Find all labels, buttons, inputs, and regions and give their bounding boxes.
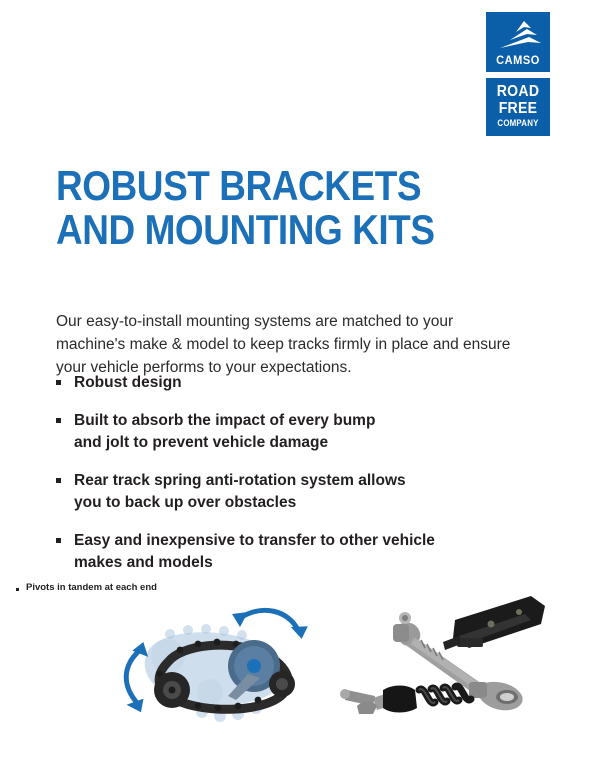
right-pivot-arrow-icon (240, 610, 298, 630)
figure-footnote: Pivots in tandem at each end (16, 582, 157, 594)
list-item-line: makes and models (74, 552, 435, 574)
list-item-text: Built to absorb the impact of every bump… (74, 410, 375, 454)
page-title-line-1: Robust brackets (56, 164, 434, 208)
list-item-line: Robust design (74, 372, 182, 394)
bullet-square-icon (56, 478, 61, 483)
list-item-line: Easy and inexpensive to transfer to othe… (74, 530, 435, 552)
bullet-square-icon (56, 380, 61, 385)
track-assembly-figure (110, 600, 335, 735)
footnote-bullet-icon (16, 588, 19, 591)
bullet-square-icon (56, 418, 61, 423)
road-free-line-1: ROAD (490, 83, 546, 100)
page-root: CAMSO ROAD FREE COMPANY Robust brackets … (0, 0, 600, 767)
list-item-line: you to back up over obstacles (74, 492, 406, 514)
hardware-parts-illustration-icon (335, 590, 550, 730)
intro-paragraph: Our easy-to-install mounting systems are… (56, 310, 526, 379)
list-item-text: Robust design (74, 372, 182, 394)
spring-assembly-part (340, 686, 471, 715)
left-arrow-head-bottom-icon (127, 699, 148, 716)
idler-wheel (154, 672, 190, 708)
list-item-line: Rear track spring anti-rotation system a… (74, 470, 406, 492)
feature-list: Robust design Built to absorb the impact… (56, 372, 526, 590)
rear-wheel (269, 671, 295, 697)
list-item: Rear track spring anti-rotation system a… (56, 470, 526, 514)
hardware-parts-figure (335, 590, 550, 730)
page-title: Robust brackets and mounting kits (56, 164, 434, 252)
list-item: Easy and inexpensive to transfer to othe… (56, 530, 526, 574)
camso-logo-badge: CAMSO (486, 12, 550, 72)
camso-wordmark: CAMSO (489, 54, 548, 66)
mounting-rail-part (443, 596, 545, 650)
road-free-line-3: COMPANY (490, 117, 546, 129)
list-item-text: Easy and inexpensive to transfer to othe… (74, 530, 435, 574)
list-item: Built to absorb the impact of every bump… (56, 410, 526, 454)
footnote-text: Pivots in tandem at each end (26, 582, 157, 594)
page-title-line-2: and mounting kits (56, 208, 434, 252)
list-item: Robust design (56, 372, 526, 394)
camso-chevron-mark-icon (494, 19, 542, 49)
road-free-line-2: FREE (490, 100, 546, 117)
list-item-line: and jolt to prevent vehicle damage (74, 432, 375, 454)
left-pivot-arrow-icon (126, 650, 140, 704)
brand-logo-stack: CAMSO ROAD FREE COMPANY (486, 12, 550, 136)
track-assembly-illustration-icon (110, 600, 335, 735)
right-arrow-head-left-icon (232, 612, 248, 627)
list-item-line: Built to absorb the impact of every bump (74, 410, 375, 432)
road-free-company-badge: ROAD FREE COMPANY (486, 78, 550, 136)
list-item-text: Rear track spring anti-rotation system a… (74, 470, 406, 514)
bullet-square-icon (56, 538, 61, 543)
